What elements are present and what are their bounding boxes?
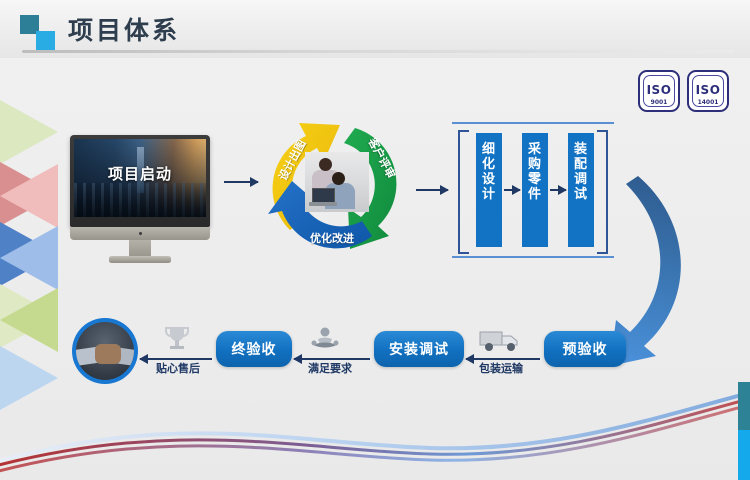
- production-box-assembly-debug: 装 配 调 试: [568, 133, 594, 247]
- iso-9001-number: 9001: [640, 99, 678, 106]
- stage-final-acceptance[interactable]: 终验收: [216, 331, 292, 367]
- arrow-purchase-to-assembly: [550, 189, 566, 191]
- stage-project-start-label: 项目启动: [74, 163, 206, 184]
- char: 采: [522, 142, 548, 157]
- slide-canvas: 项目体系 项目启动: [0, 0, 750, 480]
- char: 调: [568, 172, 594, 187]
- monitor-stand-neck: [129, 240, 151, 256]
- stage-pre-acceptance-label: 预验收: [563, 339, 608, 359]
- photo-laptop-icon: [309, 188, 337, 206]
- char: 购: [522, 157, 548, 172]
- slide-header: 项目体系: [0, 0, 750, 58]
- char: 件: [522, 187, 548, 202]
- decor-triangle: [0, 100, 58, 164]
- person-reading-icon: [310, 326, 340, 358]
- char: 设: [476, 172, 502, 187]
- decor-triangle: [0, 226, 58, 290]
- iso-14001-name: ISO: [689, 83, 727, 97]
- char: 细: [476, 142, 502, 157]
- char: 配: [568, 157, 594, 172]
- stage-project-start: 项目启动: [70, 135, 210, 263]
- right-edge-bar-blue: [738, 430, 750, 480]
- arrow-cycle-to-production: [416, 189, 448, 191]
- monitor-chin: [70, 227, 210, 240]
- production-group-bottom-rule: [452, 256, 614, 258]
- trophy-icon: [164, 325, 190, 357]
- decor-triangle: [0, 164, 58, 228]
- handshake-hands: [95, 344, 121, 364]
- char: 装: [568, 142, 594, 157]
- truck-icon: [478, 326, 524, 358]
- header-divider: [22, 50, 734, 53]
- production-group-top-rule: [452, 122, 614, 124]
- char: 计: [476, 187, 502, 202]
- stage-install-debug-label: 安装调试: [389, 339, 449, 359]
- stage-final-acceptance-label: 终验收: [232, 339, 277, 359]
- monitor-icon: 项目启动: [70, 135, 210, 227]
- stage-install-debug[interactable]: 安装调试: [374, 331, 464, 367]
- production-bracket-left: [458, 130, 469, 254]
- monitor-screen: 项目启动: [74, 139, 206, 217]
- stage-pre-acceptance[interactable]: 预验收: [544, 331, 626, 367]
- header-square-light-icon: [36, 31, 55, 50]
- right-edge-bar-teal: [738, 382, 750, 430]
- iso-9001-name: ISO: [640, 83, 678, 97]
- page-title: 项目体系: [68, 11, 180, 47]
- iso-14001-badge: ISO 14001: [687, 70, 729, 112]
- arrow-start-to-cycle: [224, 181, 258, 183]
- monitor-stand-base: [109, 256, 171, 263]
- photo-person-seated-head: [332, 172, 345, 185]
- cycle-label-improve: 优化改进: [310, 230, 354, 246]
- decor-triangle: [0, 288, 58, 352]
- arrow-design-to-purchase: [504, 189, 520, 191]
- iso-9001-badge: ISO 9001: [638, 70, 680, 112]
- production-box-purchase-parts: 采 购 零 件: [522, 133, 548, 247]
- production-group: 细 化 设 计 采 购 零 件 装 配 调 试: [452, 122, 614, 258]
- team-at-laptop-photo: [305, 152, 369, 212]
- char: 零: [522, 172, 548, 187]
- iso-14001-number: 14001: [689, 99, 727, 106]
- bottom-wave-decoration: [0, 370, 750, 480]
- photo-person-standing-head: [319, 158, 332, 171]
- design-cycle-diagram: 设计出图 客户评审 优化改进: [262, 108, 412, 258]
- char: 化: [476, 157, 502, 172]
- production-box-detail-design: 细 化 设 计: [476, 133, 502, 247]
- char: 试: [568, 187, 594, 202]
